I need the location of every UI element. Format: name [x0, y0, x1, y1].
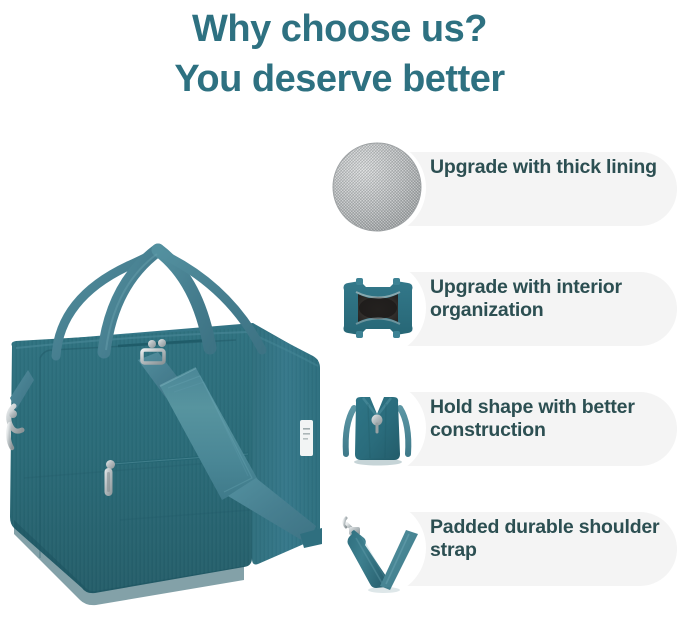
- heading-line-2: You deserve better: [0, 54, 679, 104]
- heading-line-1: Why choose us?: [0, 4, 679, 54]
- product-image: [0, 228, 330, 613]
- feature-label: Hold shape with better construction: [430, 396, 669, 442]
- shoulder-strap-icon: [330, 500, 426, 596]
- brand-label: [300, 420, 313, 456]
- standing-bag-front-icon: [330, 380, 426, 476]
- feature-label: Upgrade with interior organization: [430, 276, 669, 322]
- mesh-lining-swatch-icon: [330, 140, 426, 236]
- open-bag-top-view-icon: [330, 260, 426, 356]
- page-title: Why choose us? You deserve better: [0, 0, 679, 104]
- feature-item-shoulder-strap[interactable]: Padded durable shoulder strap: [330, 500, 679, 598]
- feature-label: Padded durable shoulder strap: [430, 516, 669, 562]
- feature-item-thick-lining[interactable]: Upgrade with thick lining: [330, 140, 679, 238]
- feature-item-interior-organization[interactable]: Upgrade with interior organization: [330, 260, 679, 358]
- feature-list: Upgrade with thick lining: [330, 140, 679, 620]
- feature-label: Upgrade with thick lining: [430, 156, 669, 179]
- feature-item-better-construction[interactable]: Hold shape with better construction: [330, 380, 679, 478]
